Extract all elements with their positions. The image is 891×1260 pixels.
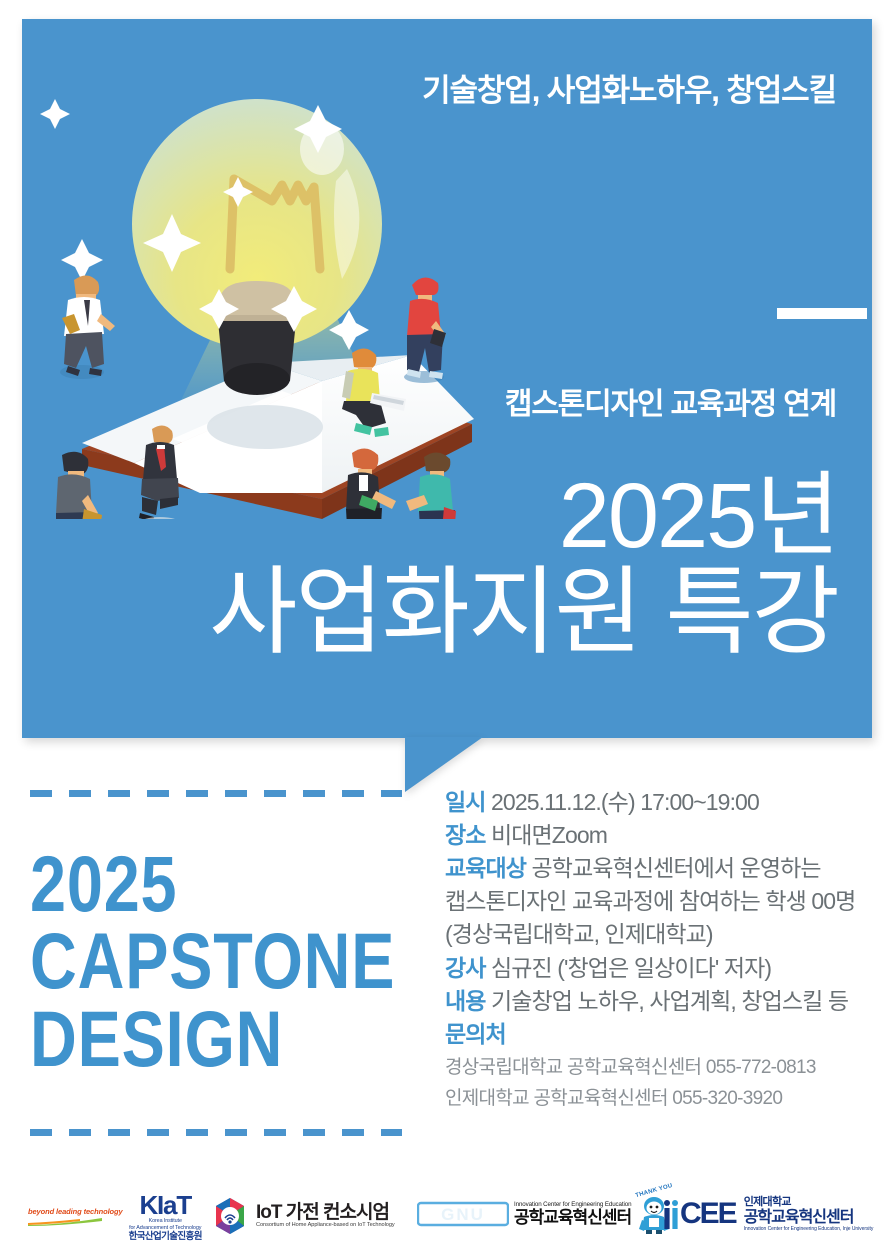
logo-kiat: beyond leading technology KIaT Korea Ins… (28, 1192, 202, 1242)
icee-wordmark: CEE (680, 1199, 736, 1229)
detail-label-audience: 교육대상 (445, 855, 526, 881)
detail-value-audience: 공학교육혁신센터에서 운영하는 (532, 855, 821, 881)
capstone-line-capstone: CAPSTONE (30, 922, 335, 999)
speech-bubble-tail (405, 737, 483, 792)
page-title-line1: 2025년 (209, 469, 838, 564)
detail-row-location: 장소 비대면Zoom (445, 819, 865, 852)
contact-line-inje: 인제대학교 공학교육혁신센터 055-320-3920 (445, 1084, 865, 1113)
contact-heading: 문의처 (445, 1018, 865, 1051)
event-details-block: 일시 2025.11.12.(수) 17:00~19:00 장소 비대면Zoom… (445, 786, 865, 1114)
logo-gnu-engineering-center: GNU Innovation Center for Engineering Ed… (417, 1188, 675, 1234)
detail-row-lecturer: 강사 심규진 ('창업은 일상이다' 저자) (445, 952, 865, 985)
footer-logo-bar: beyond leading technology KIaT Korea Ins… (0, 1186, 891, 1260)
hero-subtitle: 캡스톤디자인 교육과정 연계 (505, 379, 836, 423)
hero-panel: 기술창업, 사업화노하우, 창업스킬 캡스톤디자인 교육과정 연계 2025년 … (22, 19, 872, 738)
detail-row-datetime: 일시 2025.11.12.(수) 17:00~19:00 (445, 786, 865, 819)
capstone-line-design: DESIGN (30, 1000, 335, 1077)
gnu-wordmark-icon: GNU (417, 1198, 509, 1230)
hero-tagline: 기술창업, 사업화노하우, 창업스킬 (422, 65, 836, 110)
kiat-tagline: beyond leading technology (28, 1207, 123, 1216)
detail-label-lecturer: 강사 (445, 955, 486, 981)
kiat-korean: 한국산업기술진흥원 (129, 1232, 202, 1242)
detail-value-datetime: 2025.11.12.(수) 17:00~19:00 (491, 789, 759, 815)
capstone-text-stack: 2025 CAPSTONE DESIGN (30, 845, 402, 1077)
dashed-divider-bottom (30, 1129, 402, 1136)
page-title-line2: 사업화지원 특강 (209, 564, 838, 663)
kiat-swoosh-icon (28, 1217, 102, 1226)
icee-korean-university: 인제대학교 (744, 1196, 874, 1209)
kiat-english-line1: Korea Institute (149, 1218, 182, 1225)
detail-row-content: 내용 기술창업 노하우, 사업계획, 창업스킬 등 (445, 985, 865, 1018)
icee-korean-center: 공학교육혁신센터 (744, 1209, 874, 1227)
detail-value-location: 비대면Zoom (491, 822, 607, 848)
logo-icee-inje: CEE 인제대학교 공학교육혁신센터 Innovation Center for… (663, 1196, 873, 1233)
detail-label-content: 내용 (445, 988, 486, 1014)
iot-wordmark: IoT 가전 컨소시엄 (256, 1203, 395, 1222)
icee-english: Innovation Center for Engineering Educat… (744, 1226, 874, 1233)
dashed-divider-top (30, 790, 402, 797)
detail-value-content: 기술창업 노하우, 사업계획, 창업스킬 등 (491, 988, 848, 1014)
capstone-wordmark-block: 2025 CAPSTONE DESIGN (30, 790, 402, 1136)
svg-text:GNU: GNU (441, 1205, 485, 1224)
detail-label-location: 장소 (445, 822, 486, 848)
iot-hexagon-icon (210, 1196, 250, 1236)
gnu-korean: 공학교육혁신센터 (514, 1209, 631, 1227)
iot-english: Consortium of Home Appliance-based on Io… (256, 1222, 395, 1229)
hero-clip: 기술창업, 사업화노하우, 창업스킬 캡스톤디자인 교육과정 연계 2025년 … (22, 19, 872, 738)
icee-bars-icon (663, 1199, 679, 1229)
hero-divider-rule (777, 308, 867, 319)
logo-iot-consortium: IoT 가전 컨소시엄 Consortium of Home Appliance… (210, 1196, 395, 1236)
detail-label-datetime: 일시 (445, 789, 486, 815)
kiat-wordmark: KIaT (139, 1192, 191, 1218)
detail-audience-line2: 캡스톤디자인 교육과정에 참여하는 학생 00명 (445, 885, 865, 918)
detail-audience-line3: (경상국립대학교, 인제대학교) (445, 918, 865, 951)
page-title: 2025년 사업화지원 특강 (209, 469, 838, 663)
capstone-line-year: 2025 (30, 845, 335, 922)
detail-value-lecturer: 심규진 ('창업은 일상이다' 저자) (491, 955, 771, 981)
detail-row-audience: 교육대상 공학교육혁신센터에서 운영하는 (445, 852, 865, 885)
contact-line-gnu: 경상국립대학교 공학교육혁신센터 055-772-0813 (445, 1053, 865, 1082)
